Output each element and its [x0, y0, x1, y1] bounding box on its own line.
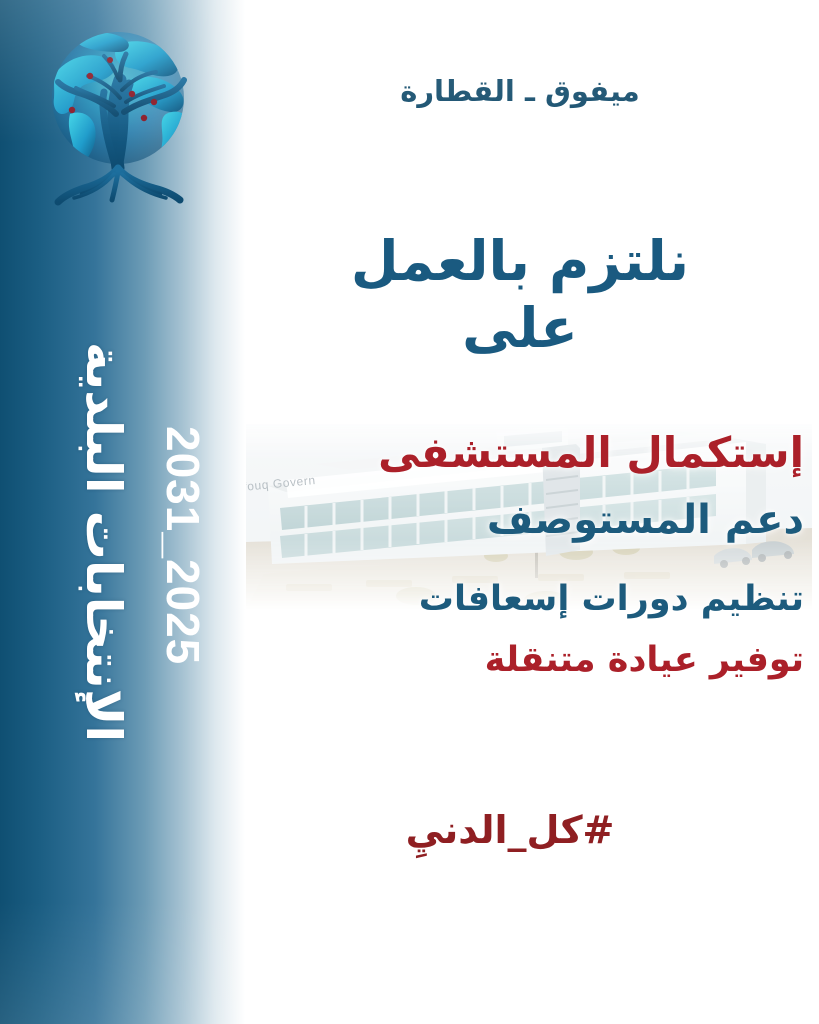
sidebar-years: 2025_2031 [160, 426, 206, 665]
globe-tree-icon [14, 18, 226, 230]
promise-item-1: إستكمال المستشفى [250, 432, 804, 474]
promise-item-2: دعم المستوصف [250, 500, 804, 540]
campaign-hashtag: #كل_الدنيِ [250, 808, 770, 852]
campaign-poster: الإنتخابات البلدية 2025_2031 ميفوق ـ الق… [0, 0, 819, 1024]
headline-line-2: على [250, 295, 790, 362]
headline-line-1: نلتزم بالعمل [250, 228, 790, 295]
promise-item-4: توفير عيادة متنقلة [250, 643, 804, 678]
promises-list: إستكمال المستشفى دعم المستوصف تنظيم دورا… [250, 432, 804, 678]
page-title: نلتزم بالعمل على [250, 228, 790, 362]
header-location: ميفوق ـ القطارة [250, 74, 790, 108]
sidebar-vertical-text: الإنتخابات البلدية 2025_2031 [0, 330, 230, 890]
promise-item-3: تنظيم دورات إسعافات [250, 582, 804, 617]
sidebar-title: الإنتخابات البلدية [79, 342, 128, 742]
